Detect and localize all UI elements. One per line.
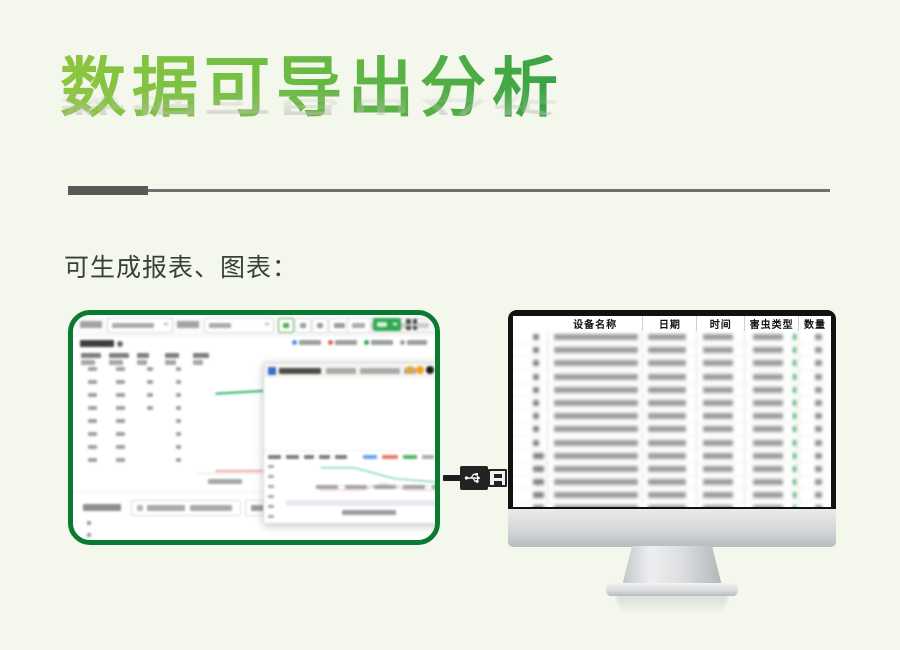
y-axis-3 [137, 367, 153, 419]
bottom-section-label [83, 504, 121, 511]
site-select-value [112, 323, 154, 328]
date-end-value [190, 505, 232, 511]
cell-pest-type [745, 476, 799, 488]
range-button-month[interactable] [295, 318, 311, 333]
range-button-day[interactable] [278, 318, 294, 333]
table-row [513, 344, 831, 357]
cell-time [697, 450, 745, 462]
popup-chart-legend [363, 455, 440, 459]
toolbar-label-pest [177, 321, 199, 328]
cell-quantity [799, 489, 831, 501]
cell-quantity [799, 384, 831, 396]
popup-chart-plot [312, 463, 440, 493]
cell-pest-type [745, 437, 799, 449]
query-button[interactable] [347, 318, 371, 333]
site-select[interactable] [107, 318, 173, 333]
pest-type-select[interactable] [204, 318, 274, 333]
table-row [513, 502, 831, 507]
table-header-device-name: 设备名称 [548, 316, 643, 331]
cell-date [643, 489, 697, 501]
cell-device-name [548, 397, 643, 409]
popup-chart-caption [264, 502, 440, 520]
table-row [513, 384, 831, 397]
cell-quantity [799, 371, 831, 383]
cell-index [513, 357, 548, 369]
cell-date [643, 463, 697, 475]
image-viewer-titlebar [264, 363, 440, 379]
divider-thin-segment [148, 189, 830, 192]
cell-pest-type [745, 450, 799, 462]
legend-item [400, 340, 427, 345]
range-year-label [317, 323, 323, 328]
y-axis-2 [109, 367, 125, 471]
monitor-stand-neck [622, 546, 722, 586]
cell-pest-type [745, 384, 799, 396]
table-row [513, 357, 831, 370]
table-row [513, 450, 831, 463]
axis-header [109, 353, 129, 365]
cell-date [643, 357, 697, 369]
cell-device-name [548, 331, 643, 343]
monitor-chin [508, 509, 836, 547]
cell-pest-type [745, 371, 799, 383]
cell-date [643, 371, 697, 383]
cell-index [513, 463, 548, 475]
table-header-pest-type: 害虫类型 [745, 316, 799, 331]
image-viewer-meta-size [326, 368, 356, 374]
usb-tip [488, 469, 507, 487]
cell-quantity [799, 423, 831, 435]
cell-date [643, 450, 697, 462]
usb-trident-icon [464, 470, 484, 486]
date-start-value [147, 505, 185, 511]
cell-device-name [548, 384, 643, 396]
cell-time [697, 410, 745, 422]
cell-device-name [548, 502, 643, 507]
cell-date [643, 502, 697, 507]
cell-index [513, 397, 548, 409]
cell-device-name [548, 410, 643, 422]
cell-quantity [799, 502, 831, 507]
cell-pest-type [745, 344, 799, 356]
table-row [513, 410, 831, 423]
panel-title [80, 340, 114, 347]
range-custom-label [334, 323, 345, 328]
cell-date [643, 476, 697, 488]
cell-index [513, 476, 548, 488]
axis-header [165, 353, 185, 365]
monitor-bezel: 设备名称 日期 时间 害虫类型 数量 [508, 310, 836, 511]
cell-pest-type [745, 502, 799, 507]
cell-quantity [799, 331, 831, 343]
grid-icon[interactable] [406, 319, 417, 330]
image-viewer-chart [264, 450, 440, 523]
y-axis-1 [81, 367, 97, 471]
cell-quantity [799, 463, 831, 475]
chevron-down-icon [163, 323, 169, 326]
table-row [513, 463, 831, 476]
cell-quantity [799, 344, 831, 356]
table-header-time: 时间 [697, 316, 745, 331]
cell-date [643, 423, 697, 435]
y-axis-4 [165, 367, 181, 471]
cell-date [643, 410, 697, 422]
table-header-quantity: 数量 [799, 316, 831, 331]
axis-header [137, 353, 157, 365]
cell-time [697, 331, 745, 343]
pest-type-select-value [209, 323, 231, 328]
usb-connector-icon [443, 462, 509, 494]
table-row [513, 437, 831, 450]
cell-device-name [548, 357, 643, 369]
legend-item [328, 340, 357, 345]
desktop-monitor: 设备名称 日期 时间 害虫类型 数量 [508, 310, 836, 525]
cell-time [697, 384, 745, 396]
monitor-stand-base [606, 583, 738, 596]
cell-date [643, 437, 697, 449]
chevron-down-icon [264, 323, 270, 326]
image-viewer-filename [279, 368, 321, 374]
cell-time [697, 437, 745, 449]
cell-index [513, 423, 548, 435]
range-month-label [300, 323, 306, 328]
bottom-date-range-picker[interactable] [131, 500, 241, 516]
cell-device-name [548, 450, 643, 462]
table-row [513, 371, 831, 384]
cell-pest-type [745, 357, 799, 369]
range-day-label [283, 323, 289, 328]
toolbar-label-site [80, 321, 102, 328]
image-file-icon [268, 367, 276, 375]
table-body [513, 331, 831, 507]
pest-data-table: 设备名称 日期 时间 害虫类型 数量 [513, 316, 831, 507]
table-header-date: 日期 [643, 316, 697, 331]
table-header-row: 设备名称 日期 时间 害虫类型 数量 [513, 316, 831, 331]
x-tick-label [208, 479, 242, 484]
query-button-label [352, 323, 365, 328]
chart-legend [292, 340, 427, 345]
table-row [513, 423, 831, 436]
cell-device-name [548, 476, 643, 488]
cell-index [513, 502, 548, 507]
cell-pest-type [745, 331, 799, 343]
monitor-reflection [616, 596, 728, 614]
cell-pest-type [745, 489, 799, 501]
axis-header [193, 353, 213, 365]
cell-device-name [548, 423, 643, 435]
cell-time [697, 344, 745, 356]
calendar-icon [137, 505, 143, 511]
page-title: 数据可导出分析 [60, 55, 840, 121]
close-icon[interactable] [426, 366, 434, 374]
cell-time [697, 357, 745, 369]
chevron-down-icon [392, 323, 398, 326]
image-viewer-blank-area [264, 378, 440, 450]
image-viewer-action-button[interactable] [438, 366, 440, 375]
bottom-y-tick [87, 533, 91, 537]
cell-index [513, 384, 548, 396]
cell-pest-type [745, 410, 799, 422]
cell-quantity [799, 437, 831, 449]
cell-index [513, 489, 548, 501]
image-viewer-window [263, 362, 440, 524]
range-button-year[interactable] [312, 318, 328, 333]
hero-title-block: 数据可导出分析 数据可导出分析 [60, 55, 840, 175]
cell-time [697, 476, 745, 488]
axis-header [81, 353, 101, 365]
window-controls[interactable] [406, 366, 434, 374]
cell-time [697, 397, 745, 409]
cell-date [643, 384, 697, 396]
cell-time [697, 489, 745, 501]
cell-pest-type [745, 463, 799, 475]
cell-index [513, 371, 548, 383]
cell-index [513, 331, 548, 343]
cell-device-name [548, 437, 643, 449]
cell-pest-type [745, 397, 799, 409]
cell-device-name [548, 344, 643, 356]
cell-date [643, 344, 697, 356]
popup-axis-headers [268, 455, 347, 459]
tablet-screenshot-panel [68, 310, 440, 545]
export-button[interactable] [373, 318, 401, 331]
cell-time [697, 502, 745, 507]
cell-pest-type [745, 423, 799, 435]
image-viewer-body [264, 378, 440, 523]
cell-quantity [799, 410, 831, 422]
dashboard-screenshot [73, 315, 435, 540]
cell-time [697, 371, 745, 383]
cell-quantity [799, 397, 831, 409]
bottom-y-tick [87, 521, 91, 525]
cell-time [697, 423, 745, 435]
table-row [513, 397, 831, 410]
cell-date [643, 397, 697, 409]
cell-index [513, 344, 548, 356]
cell-quantity [799, 450, 831, 462]
image-viewer-meta-dimensions [360, 368, 400, 374]
info-icon [117, 341, 123, 347]
cell-quantity [799, 357, 831, 369]
cell-time [697, 463, 745, 475]
cell-index [513, 450, 548, 462]
axis-headers [81, 353, 213, 365]
minimize-icon[interactable] [406, 366, 414, 374]
legend-item [292, 340, 321, 345]
subtitle: 可生成报表、图表： [64, 248, 298, 284]
table-row [513, 476, 831, 489]
cell-device-name [548, 371, 643, 383]
cell-quantity [799, 476, 831, 488]
title-divider [68, 186, 830, 195]
legend-item [364, 340, 393, 345]
table-row [513, 489, 831, 502]
cell-index [513, 437, 548, 449]
cell-index [513, 410, 548, 422]
divider-thick-segment [68, 186, 148, 195]
table-row [513, 331, 831, 344]
export-button-label [377, 322, 387, 327]
cell-device-name [548, 489, 643, 501]
cell-date [643, 331, 697, 343]
maximize-icon[interactable] [416, 366, 424, 374]
monitor-screen: 设备名称 日期 时间 害虫类型 数量 [513, 316, 831, 507]
cell-device-name [548, 463, 643, 475]
